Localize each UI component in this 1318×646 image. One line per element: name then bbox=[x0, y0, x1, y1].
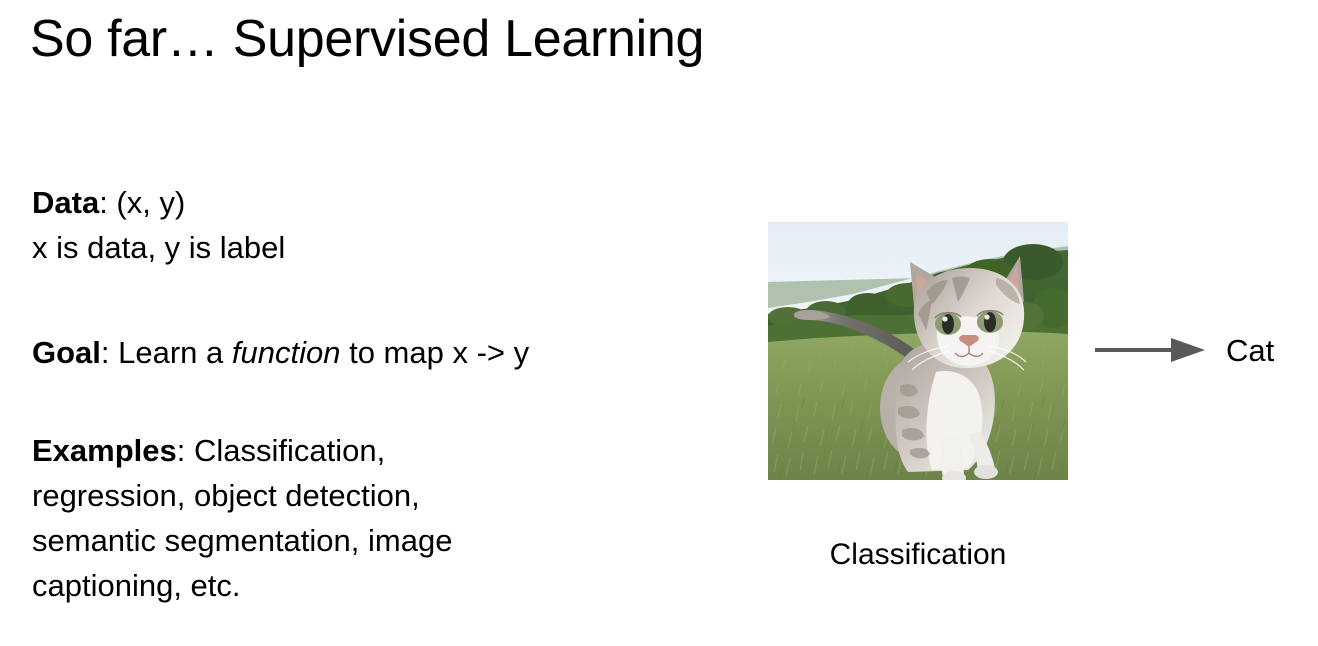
examples-line-1: Examples: Classification, bbox=[32, 428, 652, 473]
goal-after-italic: to map x -> y bbox=[340, 335, 529, 370]
examples-lead-label: Examples bbox=[32, 433, 177, 468]
examples-line-3: semantic segmentation, image bbox=[32, 518, 652, 563]
data-line-2: x is data, y is label bbox=[32, 225, 552, 270]
cat-photo bbox=[768, 222, 1068, 480]
data-line-1: Data: (x, y) bbox=[32, 180, 552, 225]
arrow-right-icon bbox=[1093, 332, 1209, 368]
goal-definition-block: Goal: Learn a function to map x -> y bbox=[32, 330, 732, 375]
examples-line-2: regression, object detection, bbox=[32, 473, 652, 518]
data-lead-label: Data bbox=[32, 185, 99, 220]
examples-line-1-rest: : Classification, bbox=[177, 433, 385, 468]
goal-italic-term: function bbox=[232, 335, 341, 370]
examples-line-4: captioning, etc. bbox=[32, 563, 652, 608]
slide-canvas: So far… Supervised Learning Data: (x, y)… bbox=[0, 0, 1318, 646]
examples-block: Examples: Classification, regression, ob… bbox=[32, 428, 652, 608]
figure-caption: Classification bbox=[768, 535, 1068, 575]
goal-lead-label: Goal bbox=[32, 335, 101, 370]
goal-before-italic: : Learn a bbox=[101, 335, 232, 370]
cat-photo-illustration bbox=[768, 222, 1068, 480]
data-lead-rest: : (x, y) bbox=[99, 185, 185, 220]
page-title: So far… Supervised Learning bbox=[30, 8, 704, 70]
output-label-cat: Cat bbox=[1226, 331, 1274, 371]
data-definition-block: Data: (x, y) x is data, y is label bbox=[32, 180, 552, 270]
